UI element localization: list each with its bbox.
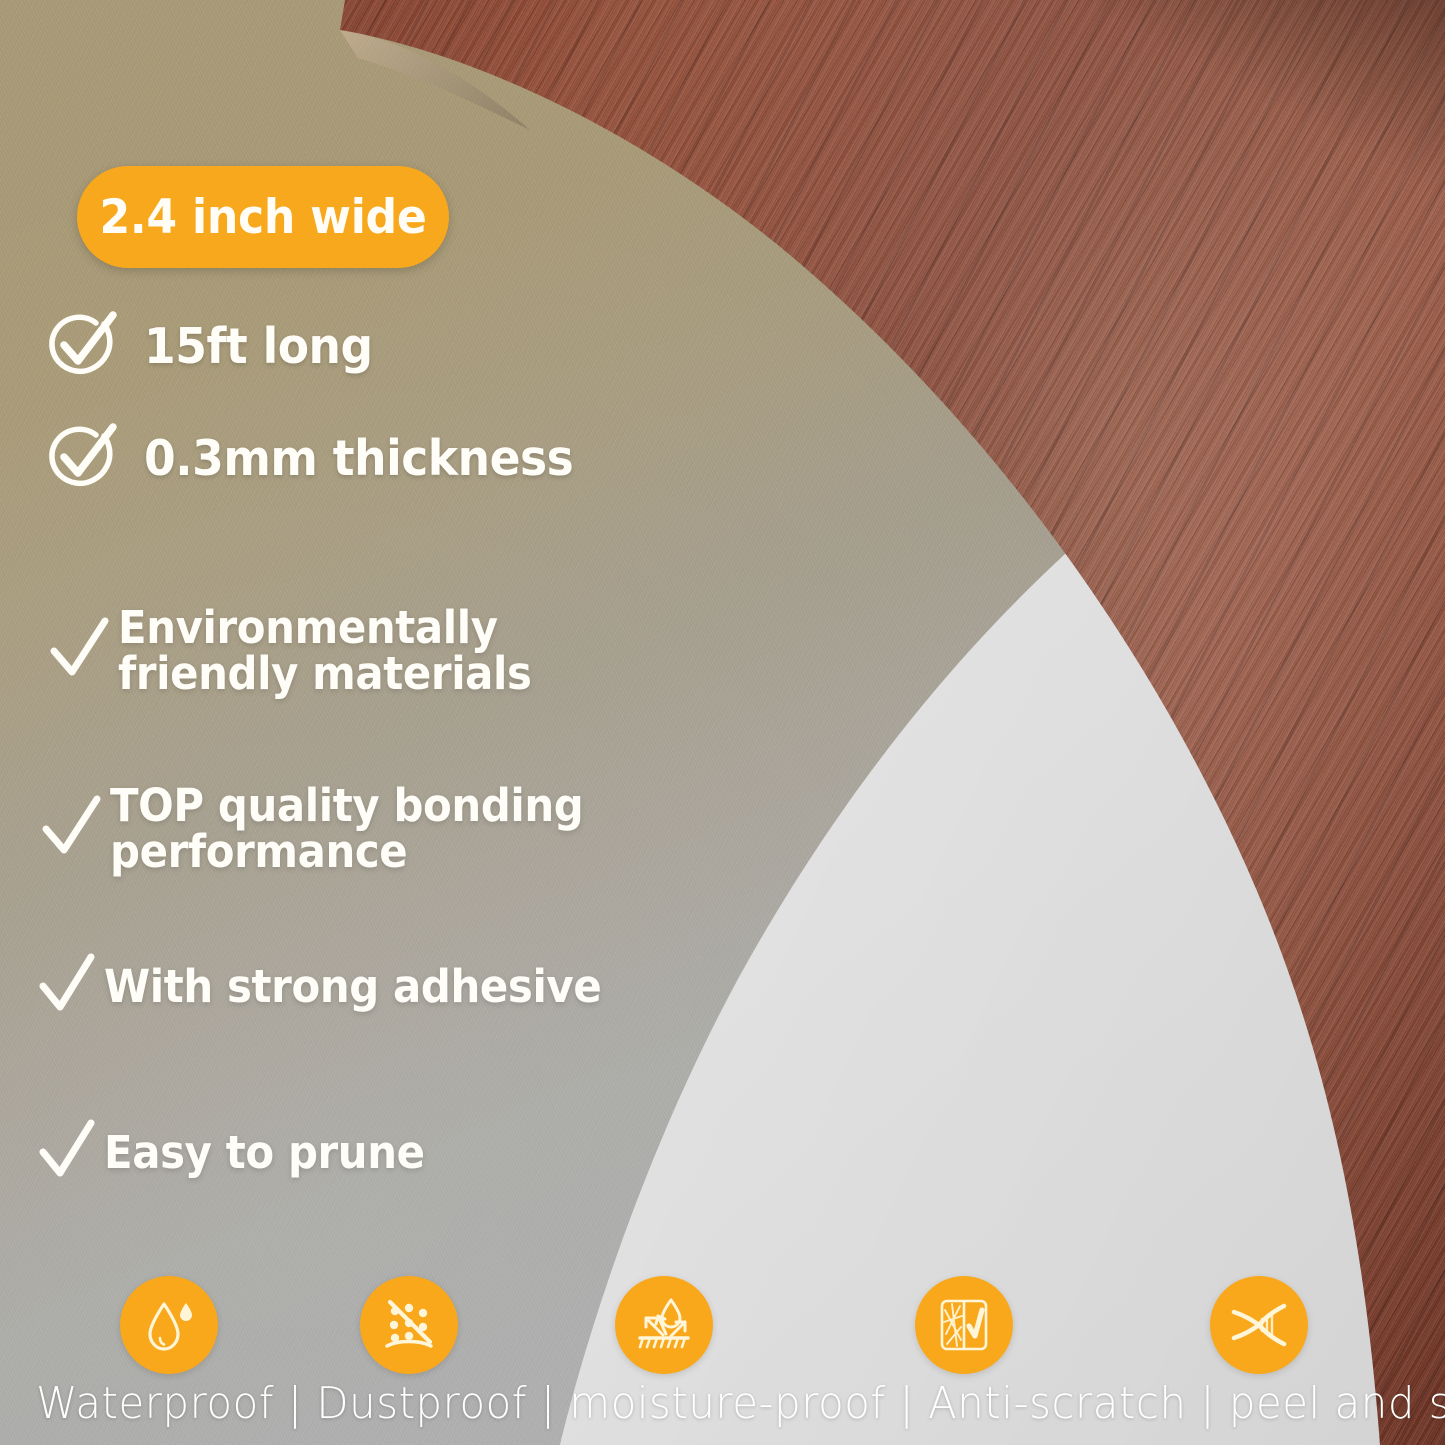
benefit-bonding-performance: TOP quality bonding performance (40, 783, 619, 876)
property-anti-scratch (915, 1276, 1013, 1374)
width-badge: 2.4 inch wide (77, 166, 449, 268)
benefit-label: With strong adhesive (104, 964, 601, 1010)
highlight-feature-thickness: 0.3mm thickness (40, 414, 606, 503)
check-icon (48, 615, 110, 688)
benefit-label: TOP quality bonding performance (110, 783, 583, 876)
circled-check-icon (40, 414, 124, 503)
scratch-shield-check-icon (933, 1294, 995, 1356)
property-peel-and-stick (1210, 1276, 1308, 1374)
highlight-feature-label: 0.3mm thickness (144, 430, 573, 487)
water-drop-icon (138, 1294, 200, 1356)
highlight-feature-length: 15ft long (40, 302, 390, 391)
property-icon-strip (0, 1276, 1445, 1380)
width-badge-label: 2.4 inch wide (99, 190, 426, 245)
check-icon (40, 793, 102, 866)
benefit-strong-adhesive: With strong adhesive (38, 952, 639, 1023)
benefit-label: Easy to prune (104, 1130, 425, 1176)
highlight-feature-label: 15ft long (144, 318, 373, 375)
moisture-repel-icon (633, 1294, 695, 1356)
property-waterproof (120, 1276, 218, 1374)
peel-strip-icon (1228, 1294, 1290, 1356)
property-moisture-proof (615, 1276, 713, 1374)
circled-check-icon (40, 302, 124, 391)
property-dustproof (360, 1276, 458, 1374)
product-feature-image: 2.4 inch wide 15ft long 0.3mm thickness … (0, 0, 1445, 1445)
benefit-label: Environmentally friendly materials (118, 605, 532, 698)
check-icon (38, 952, 96, 1023)
property-caption: Waterproof | Dustproof | moisture-proof … (36, 1378, 1409, 1429)
benefit-eco-materials: Environmentally friendly materials (48, 605, 563, 698)
dust-blocked-icon (378, 1294, 440, 1356)
benefit-easy-to-prune: Easy to prune (38, 1118, 449, 1189)
check-icon (38, 1118, 96, 1189)
